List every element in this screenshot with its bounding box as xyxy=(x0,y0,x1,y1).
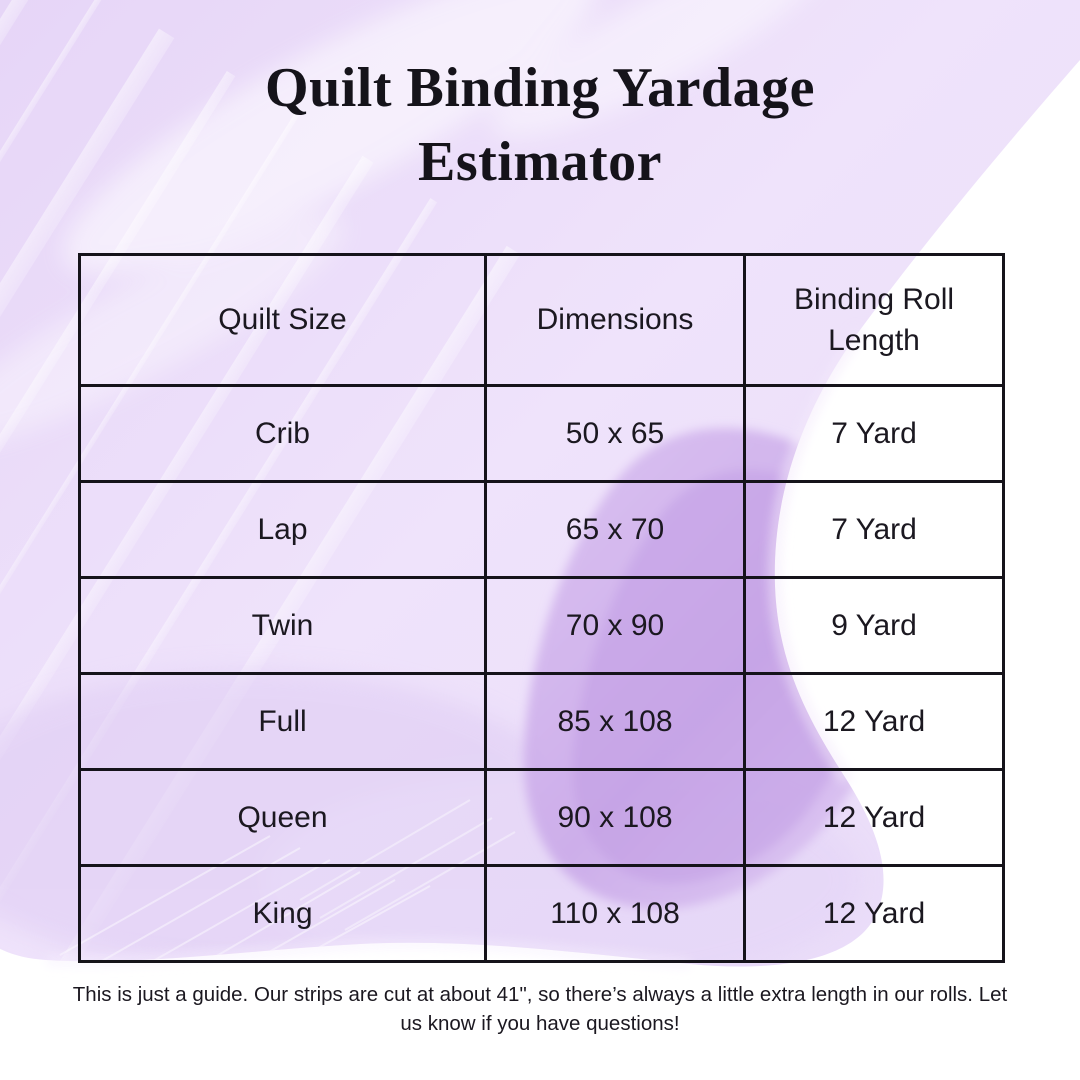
cell-binding-roll: 7 Yard xyxy=(745,482,1004,578)
cell-dimensions: 70 x 90 xyxy=(486,578,745,674)
cell-binding-roll: 12 Yard xyxy=(745,674,1004,770)
yardage-table-container: Quilt Size Dimensions Binding Roll Lengt… xyxy=(78,253,1002,941)
column-header-binding-roll-length: Binding Roll Length xyxy=(745,255,1004,386)
poster-canvas: Quilt Binding Yardage Estimator Quilt Si… xyxy=(0,0,1080,1080)
cell-quilt-size: Lap xyxy=(80,482,486,578)
footnote: This is just a guide. Our strips are cut… xyxy=(70,980,1010,1038)
cell-dimensions: 90 x 108 xyxy=(486,770,745,866)
page-title-line-2: Estimator xyxy=(90,126,990,200)
cell-binding-roll: 7 Yard xyxy=(745,386,1004,482)
page-title: Quilt Binding Yardage Estimator xyxy=(90,52,990,200)
cell-dimensions: 50 x 65 xyxy=(486,386,745,482)
cell-quilt-size: Queen xyxy=(80,770,486,866)
column-header-quilt-size: Quilt Size xyxy=(80,255,486,386)
cell-dimensions: 110 x 108 xyxy=(486,866,745,962)
table-row: Crib 50 x 65 7 Yard xyxy=(80,386,1004,482)
cell-dimensions: 85 x 108 xyxy=(486,674,745,770)
table-row: Twin 70 x 90 9 Yard xyxy=(80,578,1004,674)
table-header-row: Quilt Size Dimensions Binding Roll Lengt… xyxy=(80,255,1004,386)
column-header-dimensions: Dimensions xyxy=(486,255,745,386)
cell-binding-roll: 12 Yard xyxy=(745,770,1004,866)
cell-quilt-size: Crib xyxy=(80,386,486,482)
page-title-line-1: Quilt Binding Yardage xyxy=(90,52,990,126)
cell-binding-roll: 9 Yard xyxy=(745,578,1004,674)
yardage-table: Quilt Size Dimensions Binding Roll Lengt… xyxy=(78,253,1005,963)
cell-quilt-size: King xyxy=(80,866,486,962)
cell-dimensions: 65 x 70 xyxy=(486,482,745,578)
cell-binding-roll: 12 Yard xyxy=(745,866,1004,962)
table-row: King 110 x 108 12 Yard xyxy=(80,866,1004,962)
table-row: Lap 65 x 70 7 Yard xyxy=(80,482,1004,578)
cell-quilt-size: Twin xyxy=(80,578,486,674)
table-row: Full 85 x 108 12 Yard xyxy=(80,674,1004,770)
cell-quilt-size: Full xyxy=(80,674,486,770)
table-row: Queen 90 x 108 12 Yard xyxy=(80,770,1004,866)
footnote-line-1: This is just a guide. Our strips are cut… xyxy=(73,983,867,1006)
